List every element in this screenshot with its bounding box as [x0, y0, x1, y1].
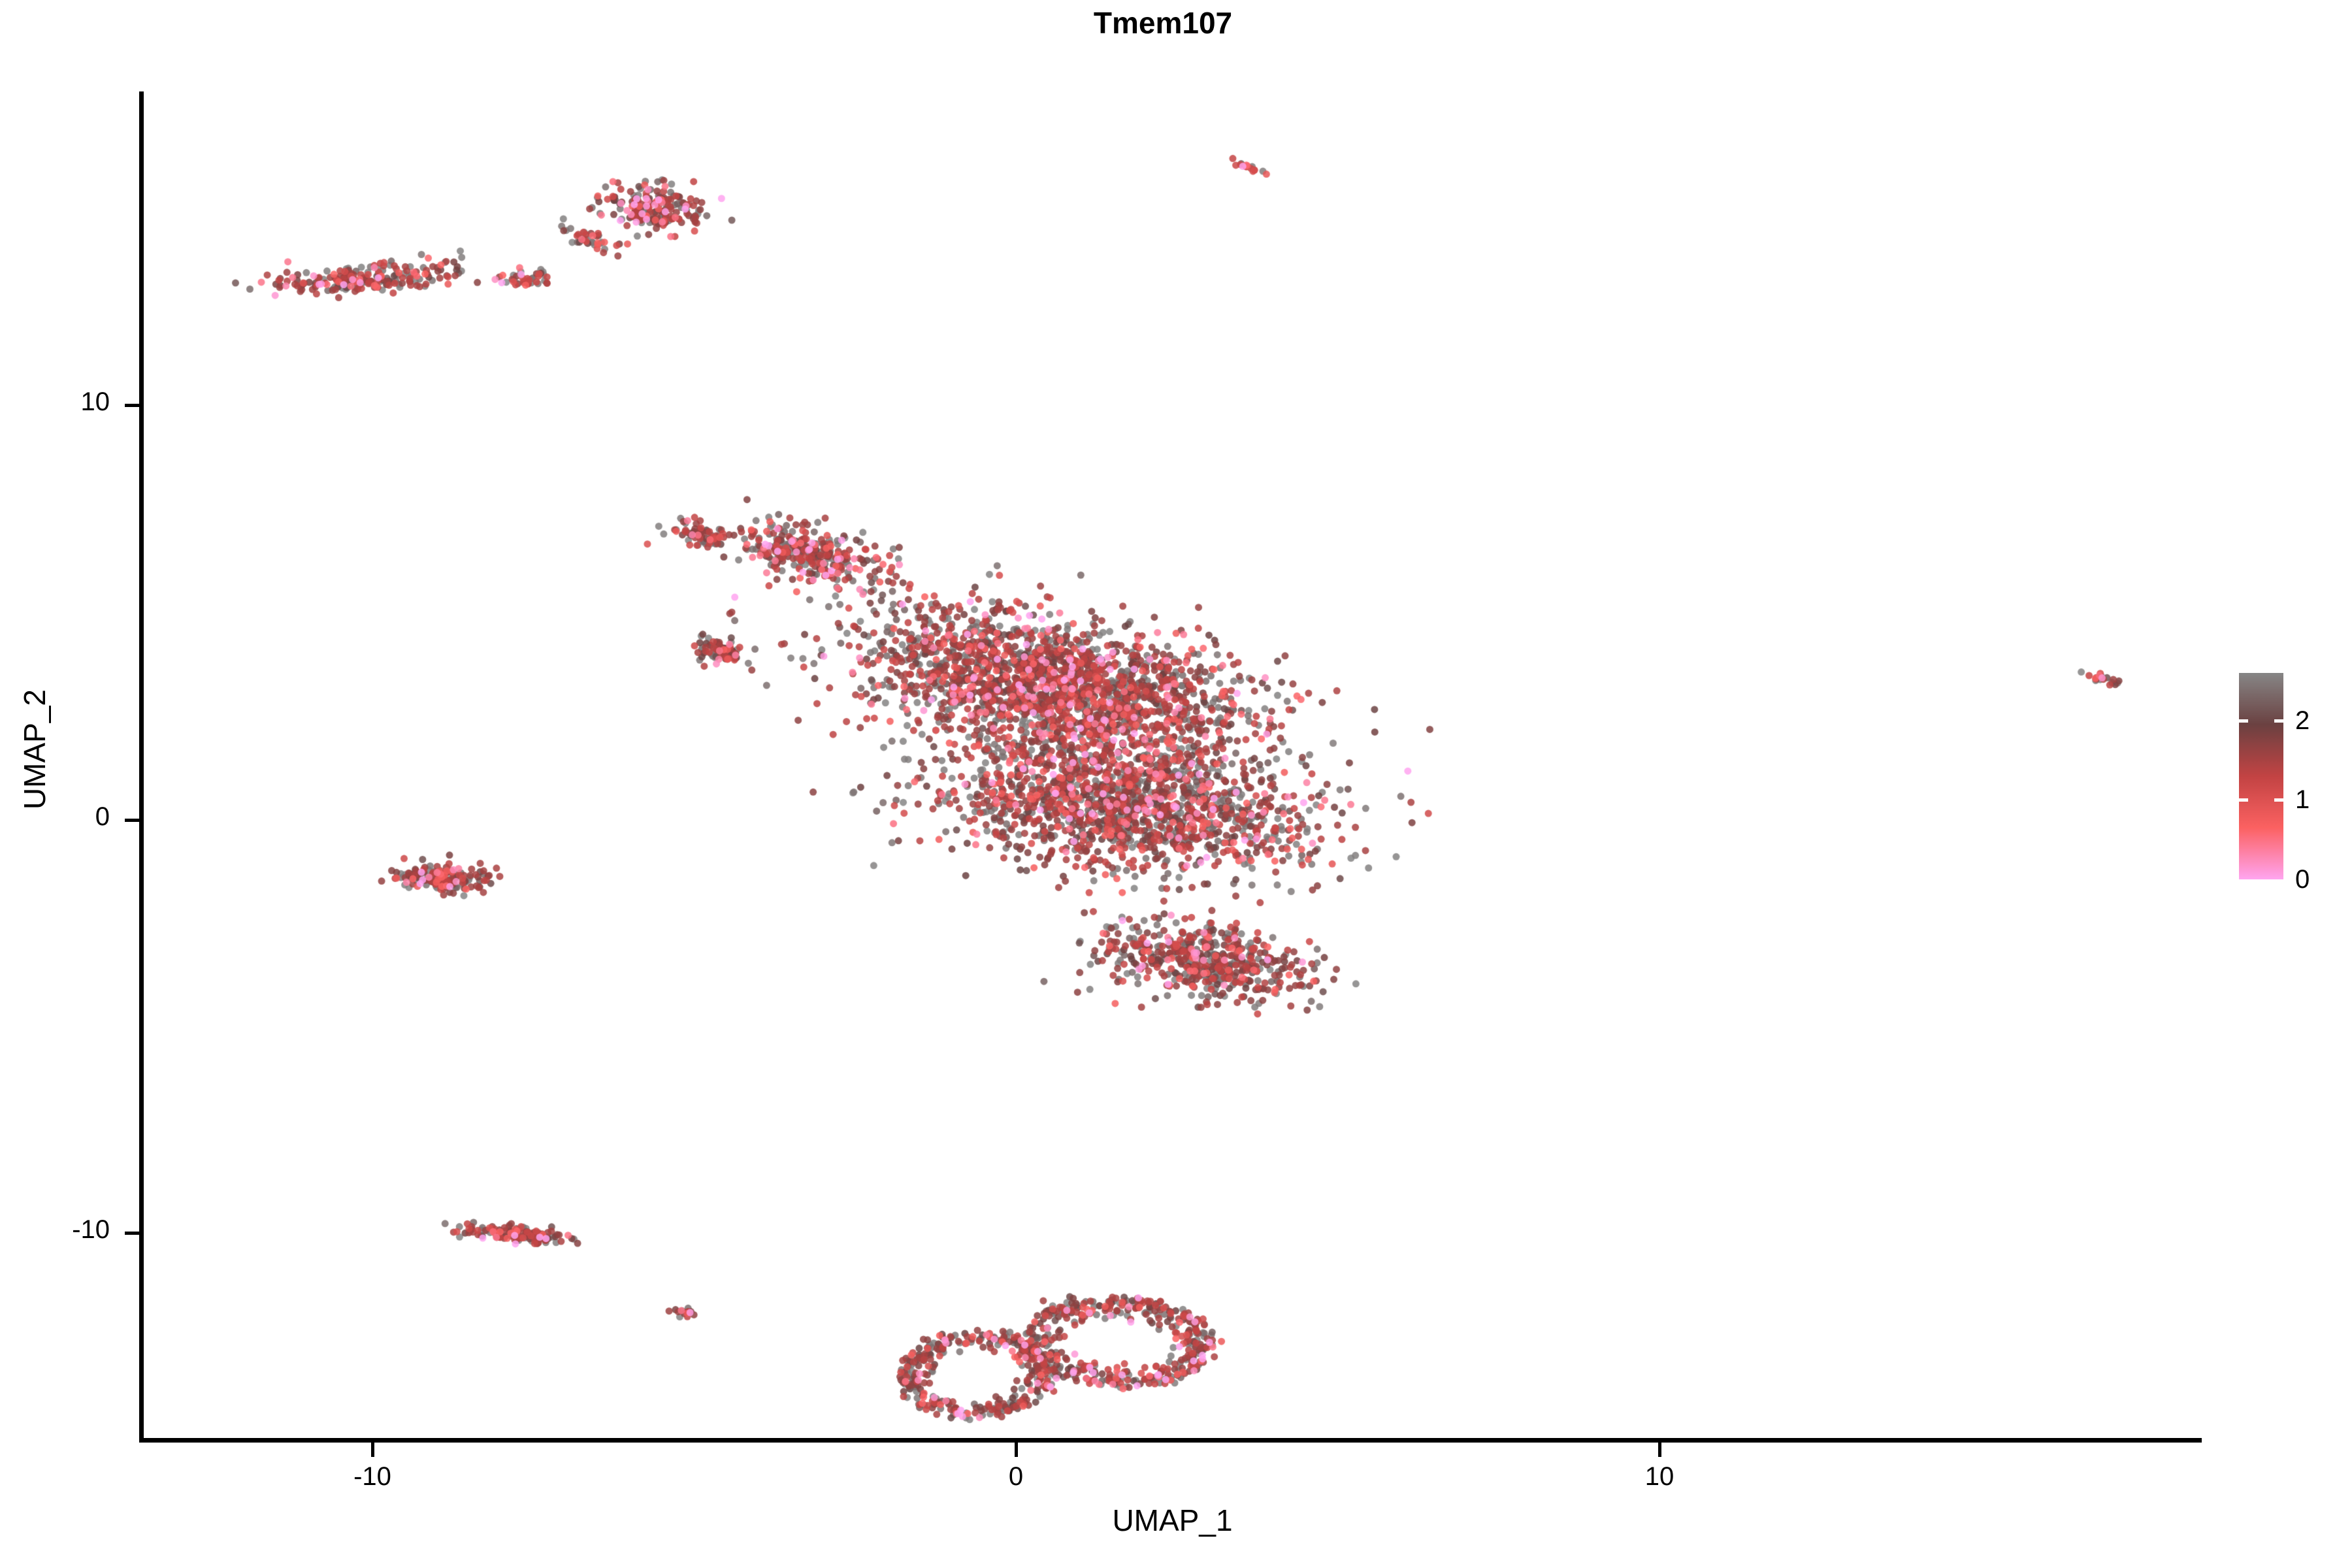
colorbar-tick-mark: [2274, 719, 2283, 723]
y-axis-line: [139, 91, 144, 1443]
x-axis-title: UMAP_1: [143, 1503, 2202, 1538]
x-axis-line: [139, 1438, 2202, 1443]
x-tick-mark: [1015, 1443, 1018, 1457]
umap-feature-plot: Tmem107 100-10-10010 UMAP_2 UMAP_1 210: [0, 0, 2352, 1568]
colorbar-gradient: [2239, 673, 2283, 879]
plot-panel: [143, 91, 2202, 1441]
y-axis-title: UMAP_2: [17, 553, 52, 945]
colorbar-tick-label: 2: [2295, 708, 2310, 734]
y-tick-label: -10: [0, 1215, 110, 1245]
x-tick-mark: [1658, 1443, 1661, 1457]
colorbar: [2239, 673, 2283, 879]
y-tick-mark: [125, 1232, 139, 1235]
colorbar-tick-label: 0: [2295, 866, 2310, 892]
colorbar-tick-mark: [2239, 719, 2248, 723]
page-title: Tmem107: [0, 5, 2326, 41]
y-tick-mark: [125, 819, 139, 822]
colorbar-tick-mark: [2274, 798, 2283, 802]
x-tick-label: -10: [307, 1462, 438, 1492]
colorbar-tick-label: 1: [2295, 787, 2310, 813]
x-tick-mark: [371, 1443, 374, 1457]
color-legend: 210: [2239, 673, 2283, 879]
y-tick-mark: [125, 404, 139, 407]
scatter-points: [143, 91, 2202, 1441]
x-tick-label: 10: [1594, 1462, 1725, 1492]
y-tick-label: 10: [0, 387, 110, 417]
x-tick-label: 0: [951, 1462, 1081, 1492]
colorbar-tick-mark: [2239, 798, 2248, 802]
